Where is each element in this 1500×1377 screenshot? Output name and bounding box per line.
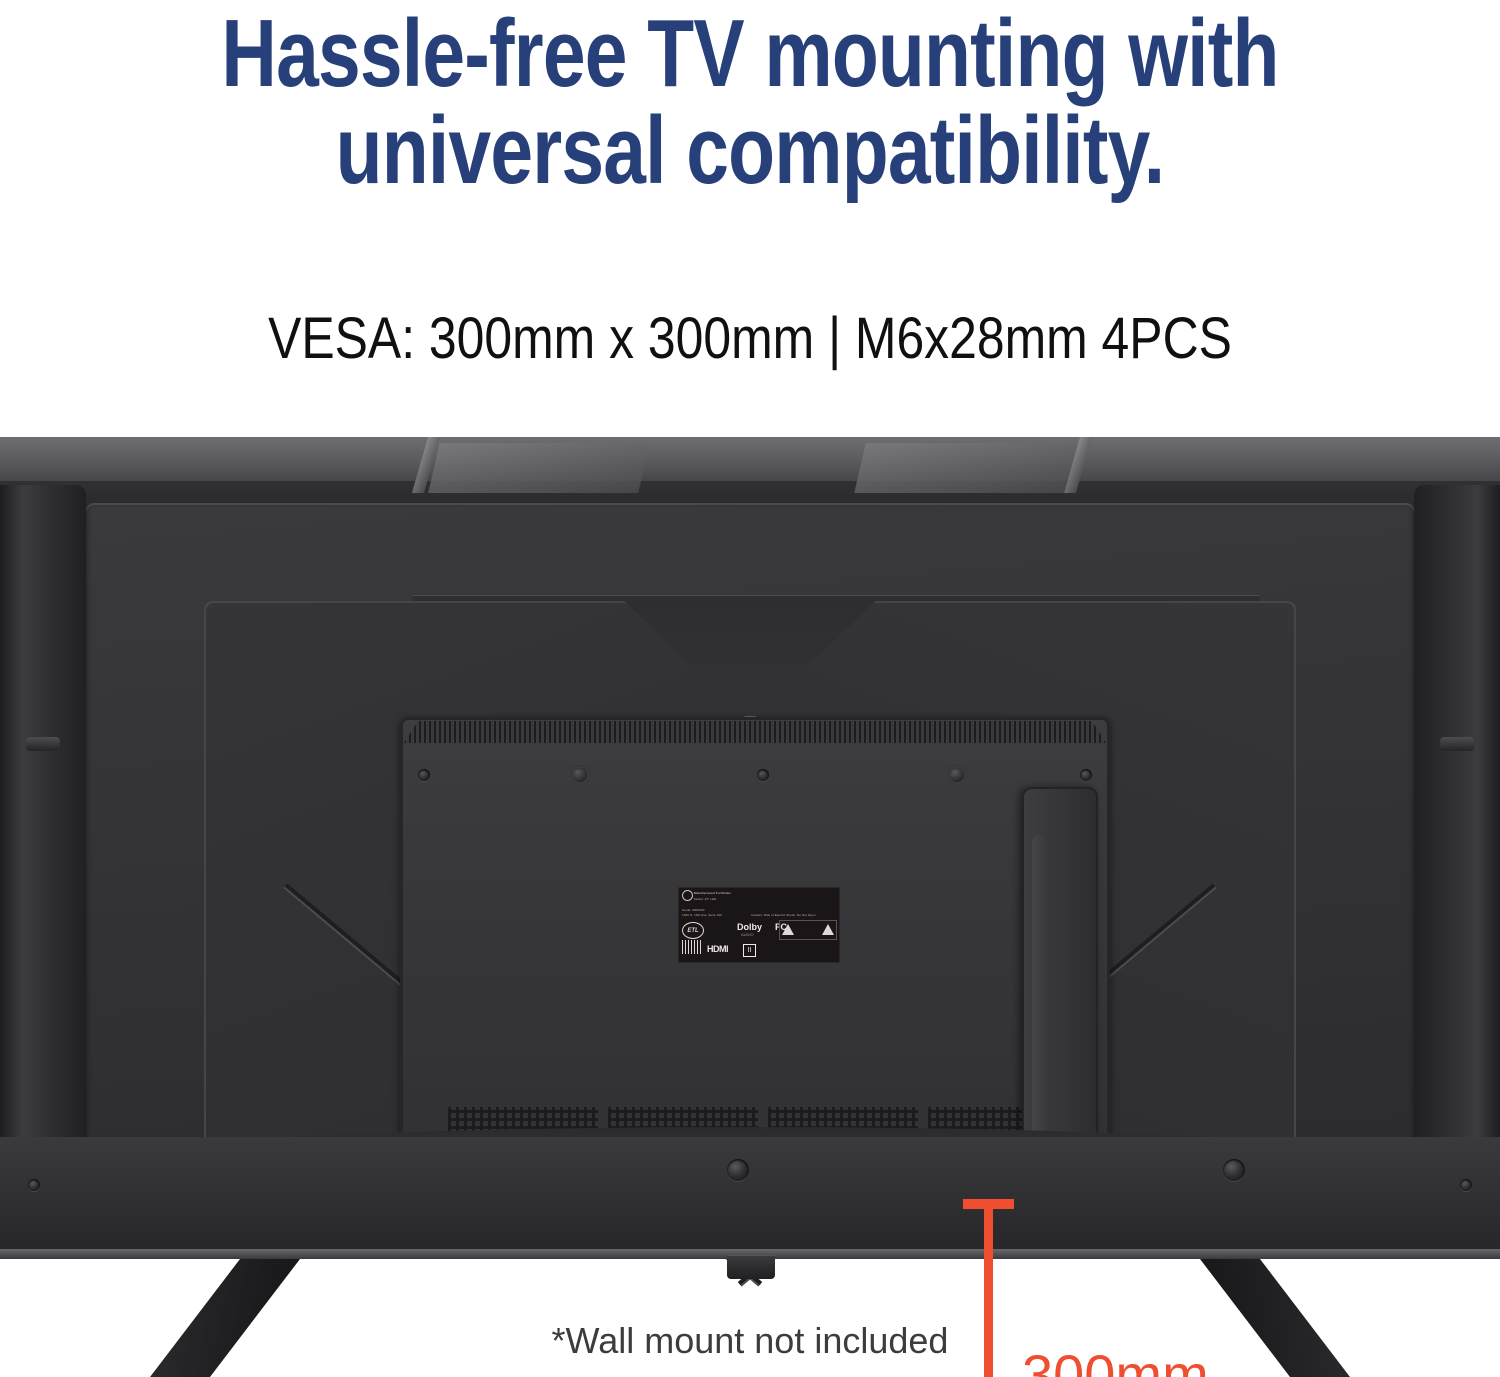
label-brand-line: Manufactured For/Under bbox=[694, 891, 731, 895]
dimension-cap-vertical-top bbox=[963, 1199, 1014, 1209]
tv-bevel-wedge-right bbox=[854, 443, 1076, 493]
vesa-screw-top-left bbox=[570, 765, 590, 785]
vesa-screw-top-right bbox=[947, 765, 967, 785]
plate-screw-tl bbox=[418, 769, 430, 781]
vesa-mount-plate: Manufactured For/Under Model: 43" LED Se… bbox=[400, 717, 1110, 1197]
label-address-line: 1000 N. 10th Ave, Suite 100 bbox=[682, 913, 722, 917]
warning-triangle-left-icon bbox=[782, 924, 794, 935]
etl-mark-icon: ETL bbox=[682, 922, 704, 939]
label-serial-line: Serial: 0000000 bbox=[682, 908, 705, 912]
label-certification-badge bbox=[682, 890, 693, 901]
headline-line-1: Hassle-free TV mounting with bbox=[150, 6, 1350, 101]
plate-screw-tr bbox=[1080, 769, 1092, 781]
label-barcode-icon bbox=[682, 940, 702, 954]
headline-line-2: universal compatibility. bbox=[150, 103, 1350, 198]
tv-product-photo: Manufactured For/Under Model: 43" LED Se… bbox=[0, 437, 1500, 1377]
bezel-screw-far-right bbox=[1460, 1179, 1472, 1191]
vesa-plate-top-vent bbox=[404, 721, 1106, 743]
dolby-logo-icon: Dolby bbox=[737, 922, 762, 932]
class-ii-mark-icon: II bbox=[743, 944, 756, 957]
vesa-spec-subtitle: VESA: 300mm x 300mm | M6x28mm 4PCS bbox=[105, 305, 1395, 372]
plate-screw-top-center bbox=[757, 769, 769, 781]
warning-triangle-right-icon bbox=[822, 924, 834, 935]
disclaimer-footnote: *Wall mount not included bbox=[0, 1320, 1500, 1362]
tv-ir-receiver-tab bbox=[727, 1255, 775, 1279]
bezel-screw-center bbox=[727, 1159, 749, 1181]
headline-block: Hassle-free TV mounting with universal c… bbox=[0, 0, 1500, 198]
product-label-sticker: Manufactured For/Under Model: 43" LED Se… bbox=[678, 887, 840, 963]
hdmi-logo-icon: HDMI bbox=[707, 944, 728, 954]
tv-chassis: Manufactured For/Under Model: 43" LED Se… bbox=[0, 437, 1500, 1257]
label-notice-line: Caution: Risk of Electric Shock. Do Not … bbox=[751, 913, 817, 917]
bezel-screw-right bbox=[1223, 1159, 1245, 1181]
tv-port-cover-groove bbox=[1032, 835, 1048, 1175]
label-model-line: Model: 43" LED bbox=[694, 897, 716, 901]
tv-bottom-bezel bbox=[0, 1137, 1500, 1257]
tv-rail-clip-left bbox=[26, 737, 60, 751]
tv-rail-clip-right bbox=[1440, 737, 1474, 751]
bezel-screw-far-left bbox=[28, 1179, 40, 1191]
dolby-audio-sublabel: AUDIO bbox=[741, 932, 754, 937]
tv-bevel-wedge-left bbox=[428, 443, 650, 493]
label-warning-box bbox=[779, 920, 837, 940]
